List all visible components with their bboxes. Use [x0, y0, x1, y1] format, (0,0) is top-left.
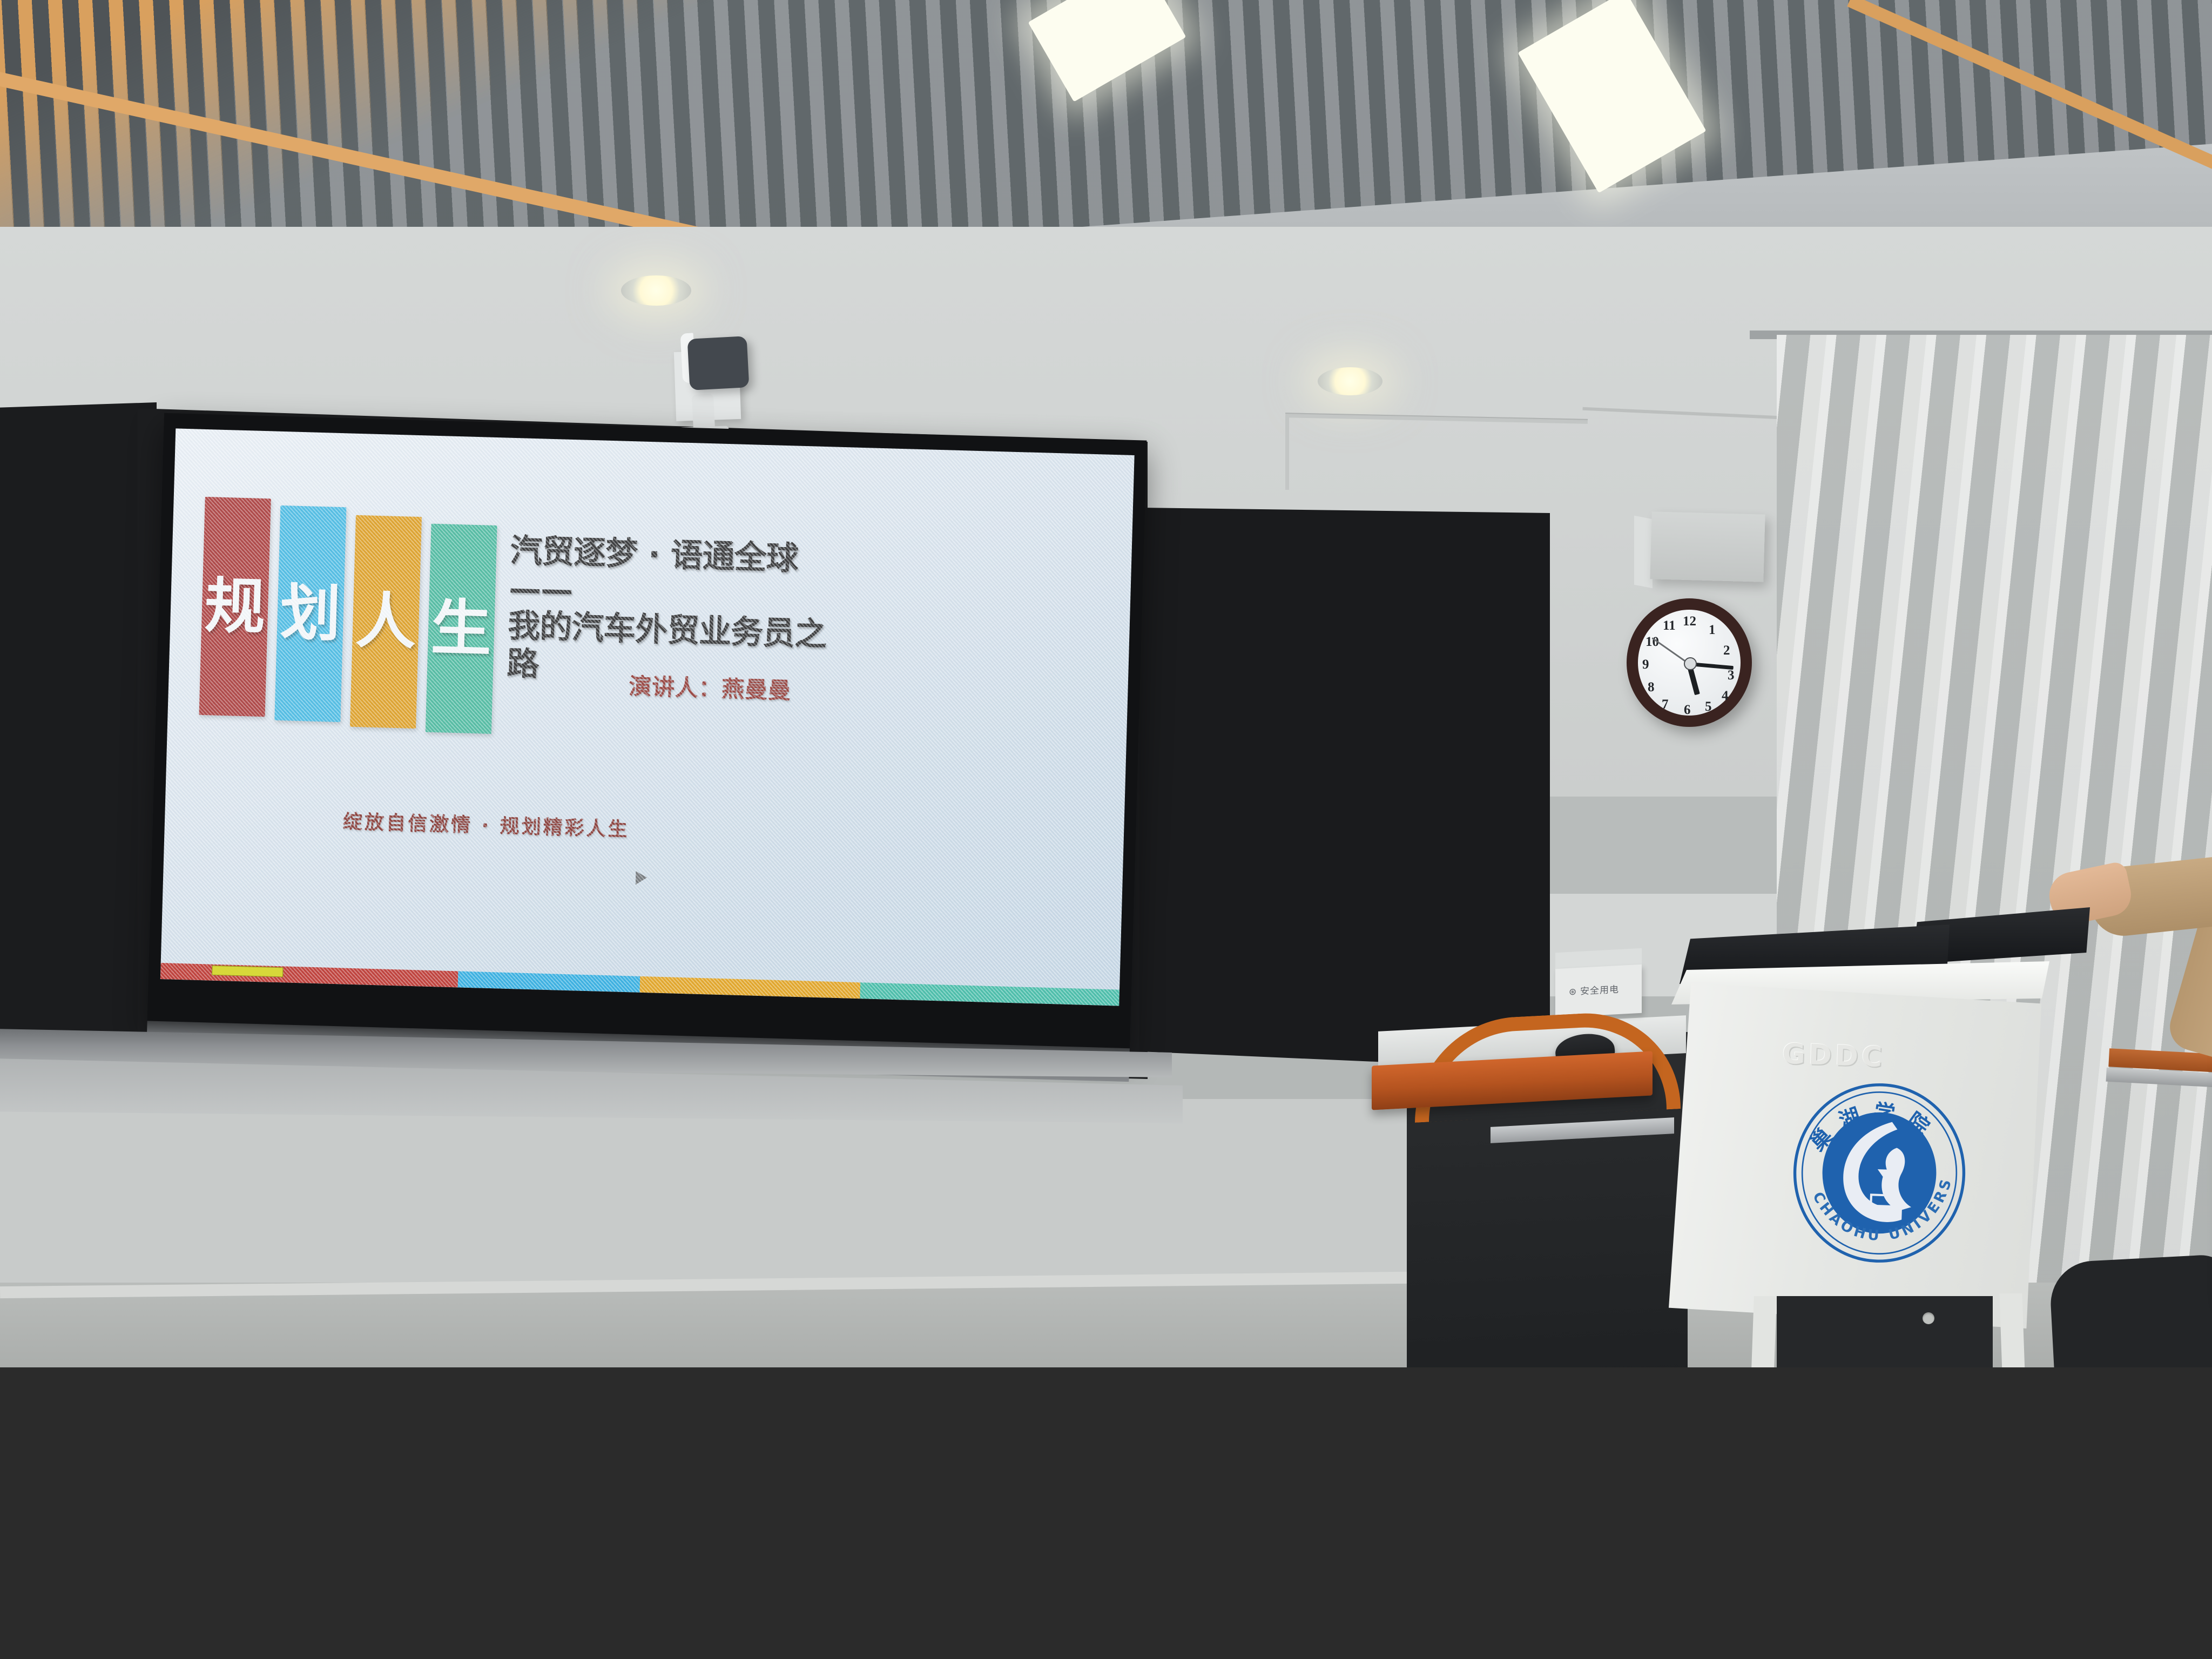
ceiling: [0, 0, 2212, 254]
slide-title-line-1: 汽贸逐梦 · 语通全球——: [508, 532, 840, 617]
footer-bar-segment: [457, 971, 640, 992]
footer-bar-segment: [860, 982, 1120, 1006]
clock-numeral: 11: [1663, 618, 1676, 633]
ceiling-downlight: [1318, 367, 1382, 395]
clock-center-pin: [1684, 657, 1697, 670]
slide-column-4: 生: [426, 524, 497, 734]
screenshot-canvas: 规 划 人 生 汽贸逐梦 · 语通全球—— 我的汽车外贸业务员之 路: [0, 0, 2212, 1659]
clock-numeral: 12: [1683, 614, 1696, 629]
slide-color-columns: 规 划 人 生: [199, 497, 498, 734]
wall-speaker-box: [1650, 511, 1765, 582]
clock-numeral: 9: [1642, 657, 1649, 672]
slide-title: 汽贸逐梦 · 语通全球—— 我的汽车外贸业务员之 路: [506, 532, 840, 692]
slide-speaker-label: 演讲人：燕曼曼: [629, 668, 792, 705]
equipment-box-label: ⊛ 安全用电: [1569, 982, 1619, 998]
classroom-photo: 规 划 人 生 汽贸逐梦 · 语通全球—— 我的汽车外贸业务员之 路: [0, 0, 2212, 1369]
chair[interactable]: [2048, 1253, 2212, 1369]
podium-leg: [1999, 1293, 2025, 1369]
slide-headline-char-2: 划: [279, 583, 341, 645]
letterbox-bar-bottom: [0, 1367, 2212, 1659]
footer-bar-segment: [639, 976, 860, 999]
cable-conduit-vertical: [1285, 417, 1289, 490]
podium-lock-knob[interactable]: [1923, 1312, 1934, 1324]
slide-tagline: 绽放自信激情 · 规划精彩人生: [342, 806, 630, 842]
slide-footer-bar: [160, 963, 1120, 1006]
podium-leg: [1751, 1296, 1777, 1369]
clock-numeral: 3: [1728, 668, 1735, 683]
clock-numeral: 8: [1648, 680, 1655, 695]
slide-headline-char-1: 规: [204, 576, 266, 638]
seewo-interactive-display[interactable]: 规 划 人 生 汽贸逐梦 · 语通全球—— 我的汽车外贸业务员之 路: [147, 413, 1147, 1050]
display-screen[interactable]: 规 划 人 生 汽贸逐梦 · 语通全球—— 我的汽车外贸业务员之 路: [160, 428, 1135, 1006]
clock-numeral: 6: [1684, 703, 1691, 718]
clock-face: 12 1 2 3 4 5 6 7 8 9 10 11: [1638, 610, 1741, 716]
chalkboard-panel-left: [0, 402, 157, 1050]
slide-column-1: 规: [199, 497, 271, 717]
ceiling-downlight: [621, 275, 691, 306]
wall-clock: 12 1 2 3 4 5 6 7 8 9 10 11: [1627, 598, 1752, 727]
slide-column-3: 人: [350, 515, 422, 729]
footer-bar-segment: [160, 963, 458, 987]
slide-headline-char-3: 人: [355, 591, 417, 653]
clock-numeral: 2: [1723, 643, 1730, 658]
screen-sticker: [212, 966, 283, 977]
chalkboard-panel-right: [1139, 475, 1550, 1069]
slide-column-2: 划: [274, 505, 346, 722]
slide-headline-char-4: 生: [430, 598, 493, 660]
podium-base-dark: [1777, 1296, 1993, 1369]
clock-numeral: 7: [1662, 697, 1669, 712]
podium-brand-label: GDDC: [1782, 1038, 1886, 1074]
clock-numeral: 1: [1709, 623, 1716, 638]
mouse-cursor-icon: [630, 871, 647, 888]
chaohu-university-logo-icon: 巢湖学院 CHAOHU UNIVERSITY: [1784, 1078, 1974, 1268]
security-camera-icon: [687, 336, 750, 390]
clock-numeral: 4: [1722, 689, 1729, 704]
clock-numeral: 5: [1705, 699, 1712, 714]
